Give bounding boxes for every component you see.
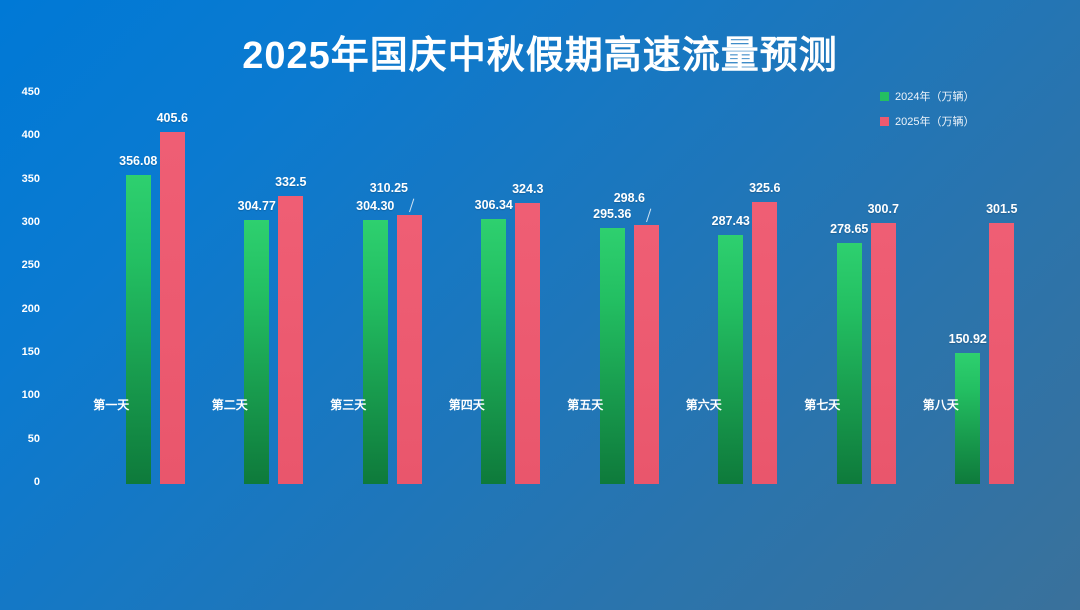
page-title: 2025年国庆中秋假期高速流量预测 — [0, 34, 1080, 80]
bar-value-label: 356.08 — [119, 154, 157, 168]
slide-canvas: 2025年国庆中秋假期高速流量预测 2024年（万辆） 2025年（万辆） 45… — [0, 0, 1080, 610]
x-axis-label: 第五天 — [526, 396, 645, 413]
bar-2025[interactable]: 325.6 — [752, 202, 777, 484]
bar-2025[interactable]: 332.5 — [278, 196, 303, 484]
bar-pair: 150.92301.5 — [926, 94, 1045, 484]
bar-value-label: 300.7 — [868, 202, 899, 216]
bar-value-label: 150.92 — [949, 332, 987, 346]
bar-2025[interactable]: 310.25 — [397, 215, 422, 484]
bar-group: 356.08405.6 — [96, 92, 215, 484]
bar-2025[interactable]: 405.6 — [160, 132, 185, 484]
bar-group: 278.65300.7 — [807, 92, 926, 484]
bar-group: 150.92301.5 — [926, 92, 1045, 484]
bar-pair: 295.36298.6 — [570, 94, 689, 484]
bar-pair: 306.34324.3 — [452, 94, 571, 484]
bar-value-label: 310.25 — [370, 181, 408, 195]
chart-plot-area: 450 400 350 300 250 200 150 100 50 0 356… — [44, 92, 1044, 484]
bar-pair: 304.77332.5 — [215, 94, 334, 484]
bar-2024[interactable]: 295.36 — [600, 228, 625, 484]
x-axis-label: 第七天 — [763, 396, 882, 413]
bar-2024[interactable]: 150.92 — [955, 353, 980, 484]
y-tick-450: 450 — [0, 86, 40, 98]
bar-value-label: 332.5 — [275, 175, 306, 189]
bar-2025[interactable]: 298.6 — [634, 225, 659, 484]
y-tick-150: 150 — [0, 346, 40, 358]
bar-group: 304.30310.25 — [333, 92, 452, 484]
bar-2024[interactable]: 304.30 — [363, 220, 388, 484]
bar-group: 304.77332.5 — [215, 92, 334, 484]
bar-2024[interactable]: 306.34 — [481, 219, 506, 484]
bar-pair: 278.65300.7 — [807, 94, 926, 484]
y-tick-0: 0 — [0, 476, 40, 488]
x-axis-label: 第二天 — [171, 396, 290, 413]
y-tick-200: 200 — [0, 303, 40, 315]
bar-2024[interactable]: 356.08 — [126, 175, 151, 484]
x-axis-label: 第一天 — [52, 396, 171, 413]
y-tick-350: 350 — [0, 173, 40, 185]
bar-group: 295.36298.6 — [570, 92, 689, 484]
bar-groups: 356.08405.6304.77332.5304.30310.25306.34… — [96, 92, 1044, 484]
bar-value-label: 405.6 — [157, 111, 188, 125]
y-tick-100: 100 — [0, 389, 40, 401]
bar-value-label: 304.77 — [238, 199, 276, 213]
bar-value-label: 324.3 — [512, 182, 543, 196]
bar-2024[interactable]: 304.77 — [244, 220, 269, 484]
bar-group: 287.43325.6 — [689, 92, 808, 484]
bar-value-label: 287.43 — [712, 214, 750, 228]
label-leader-line — [646, 209, 651, 223]
bar-2025[interactable]: 300.7 — [871, 223, 896, 484]
y-tick-50: 50 — [0, 433, 40, 445]
y-tick-400: 400 — [0, 129, 40, 141]
bar-2024[interactable]: 287.43 — [718, 235, 743, 484]
bar-value-label: 298.6 — [614, 191, 645, 205]
x-axis-label: 第八天 — [882, 396, 1001, 413]
bar-value-label: 301.5 — [986, 202, 1017, 216]
label-leader-line — [409, 199, 414, 213]
bar-pair: 356.08405.6 — [96, 94, 215, 484]
bar-value-label: 304.30 — [356, 199, 394, 213]
y-tick-250: 250 — [0, 259, 40, 271]
bar-value-label: 278.65 — [830, 222, 868, 236]
x-axis-label: 第三天 — [289, 396, 408, 413]
y-tick-300: 300 — [0, 216, 40, 228]
x-axis-labels: 第一天第二天第三天第四天第五天第六天第七天第八天 — [52, 396, 1000, 413]
bar-2024[interactable]: 278.65 — [837, 243, 862, 484]
x-axis-label: 第六天 — [645, 396, 764, 413]
bar-pair: 287.43325.6 — [689, 94, 808, 484]
x-axis-label: 第四天 — [408, 396, 527, 413]
bar-pair: 304.30310.25 — [333, 94, 452, 484]
bar-group: 306.34324.3 — [452, 92, 571, 484]
bar-2025[interactable]: 301.5 — [989, 223, 1014, 484]
bar-value-label: 325.6 — [749, 181, 780, 195]
bar-value-label: 306.34 — [475, 198, 513, 212]
bar-value-label: 295.36 — [593, 207, 631, 221]
bar-2025[interactable]: 324.3 — [515, 203, 540, 484]
